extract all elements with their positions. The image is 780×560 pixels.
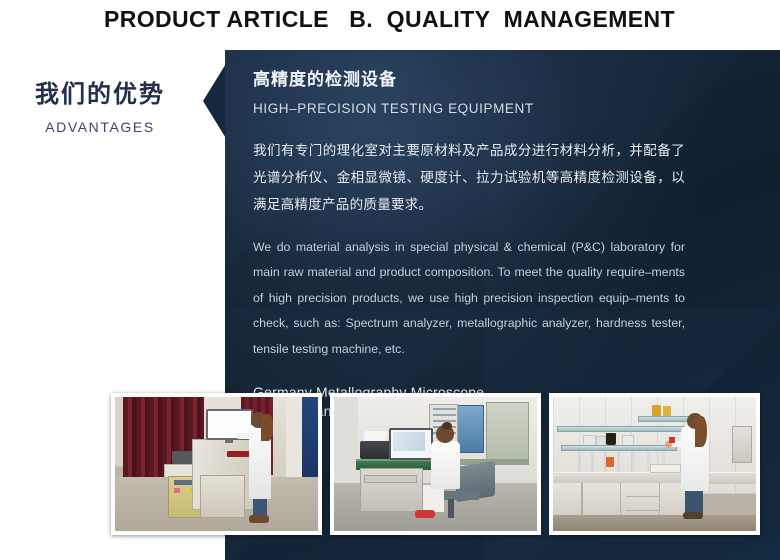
advantages-block: 我们的优势 ADVANTAGES: [0, 80, 200, 135]
photo-gallery: [111, 393, 761, 535]
page-title: PRODUCT ARTICLE B. QUALITY MANAGEMENT: [104, 6, 675, 33]
advantages-title-cn: 我们的优势: [0, 80, 200, 110]
photo-thumbnail-2[interactable]: [330, 393, 541, 535]
panel-text-block: 高精度的检测设备 HIGH–PRECISION TESTING EQUIPMEN…: [253, 68, 752, 422]
section-body-cn: 我们有专门的理化室对主要原材料及产品成分进行材料分析，并配备了光谱分析仪、金相显…: [253, 137, 685, 218]
photo-thumbnail-3[interactable]: [549, 393, 760, 535]
photo-thumbnail-1[interactable]: [111, 393, 322, 535]
photo-image-metallographic-workstation: [334, 397, 537, 531]
section-heading-cn: 高精度的检测设备: [253, 68, 752, 92]
section-body-en: We do material analysis in special physi…: [253, 235, 685, 363]
advantages-title-en: ADVANTAGES: [0, 119, 200, 135]
section-heading-en: HIGH–PRECISION TESTING EQUIPMENT: [253, 101, 752, 116]
photo-image-spectrum-analyzer: [115, 397, 318, 531]
chevron-left-icon: [203, 62, 227, 140]
photo-image-chemical-laboratory: [553, 397, 756, 531]
